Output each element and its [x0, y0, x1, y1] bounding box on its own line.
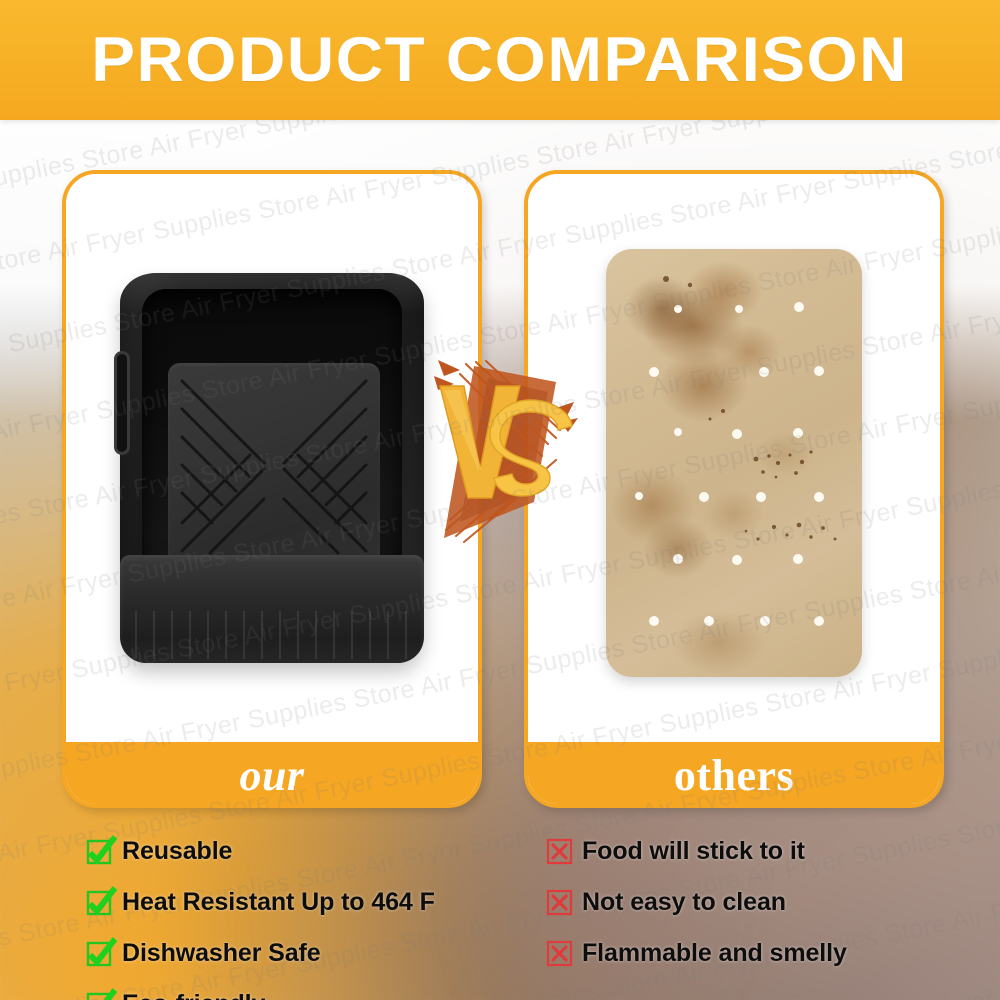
pros-item-label: Eco-friendly: [122, 990, 265, 1000]
check-square-icon: [86, 889, 113, 916]
check-square-icon: [86, 991, 113, 1000]
list-item: Heat Resistant Up to 464 F: [86, 885, 506, 919]
others-label-text: others: [674, 750, 794, 801]
pros-item-label: Dishwasher Safe: [122, 939, 321, 968]
cons-list: Food will stick to it Not easy to clean …: [546, 834, 966, 970]
our-label-text: our: [239, 750, 304, 801]
others-label-band: others: [524, 742, 944, 808]
check-square-icon: [86, 940, 113, 967]
page-title: PRODUCT COMPARISON: [92, 24, 909, 96]
list-item: Food will stick to it: [546, 834, 966, 868]
pros-item-label: Reusable: [122, 837, 232, 866]
basket-front-wall: [120, 555, 424, 663]
stained-parchment-liner-illustration: [606, 249, 862, 677]
x-square-icon: [546, 889, 573, 916]
header-banner: PRODUCT COMPARISON: [0, 0, 1000, 120]
list-item: Dishwasher Safe: [86, 936, 506, 970]
pros-item-label: Heat Resistant Up to 464 F: [122, 888, 435, 917]
x-ridge-pattern-icon: [168, 363, 380, 569]
x-square-icon: [546, 940, 573, 967]
cons-item-label: Flammable and smelly: [582, 939, 847, 968]
cons-item-label: Not easy to clean: [582, 888, 786, 917]
list-item: Reusable: [86, 834, 506, 868]
basket-side-handle-slot: [114, 351, 130, 455]
product-comparison-infographic: our: [0, 0, 1000, 1000]
cons-item-label: Food will stick to it: [582, 837, 805, 866]
our-product-image: [66, 174, 478, 742]
list-item: Not easy to clean: [546, 885, 966, 919]
others-product-image: [528, 174, 940, 742]
perforation-holes-icon: [606, 249, 862, 677]
pros-list: Reusable Heat Resistant Up to 464 F Dish…: [86, 834, 506, 1000]
vertical-rib-pattern-icon: [120, 555, 424, 663]
x-square-icon: [546, 838, 573, 865]
list-item: Flammable and smelly: [546, 936, 966, 970]
comparison-card-our: our: [62, 170, 482, 808]
silicone-basket-liner-illustration: [112, 255, 432, 675]
check-square-icon: [86, 838, 113, 865]
list-item: Eco-friendly: [86, 987, 506, 1000]
our-label-band: our: [62, 742, 482, 808]
comparison-card-others: others: [524, 170, 944, 808]
basket-bottom-ridge-pad: [168, 363, 380, 569]
